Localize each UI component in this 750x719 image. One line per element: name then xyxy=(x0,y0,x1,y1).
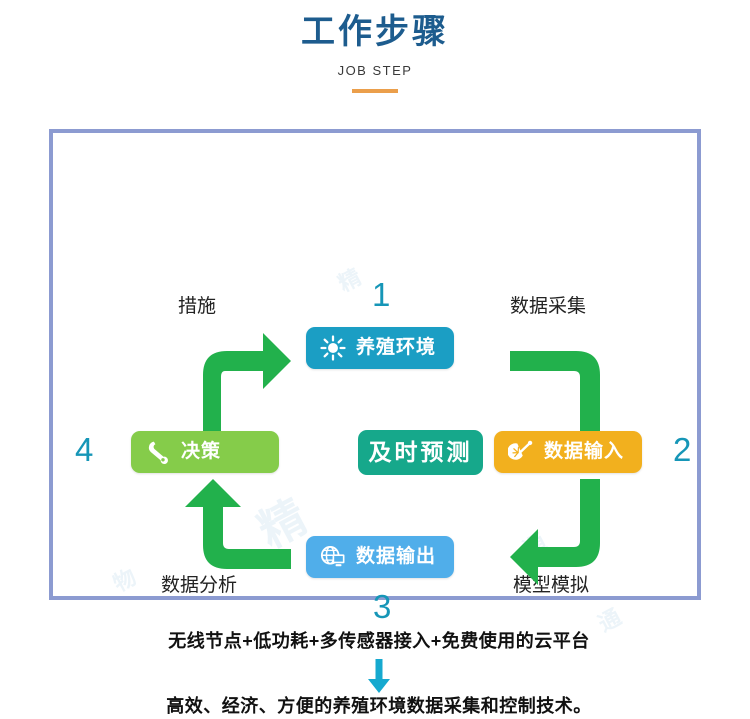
watermark-text: 物 xyxy=(107,560,141,599)
watermark-text: 精 xyxy=(332,260,366,299)
node-label: 养殖环境 xyxy=(356,327,436,369)
arrow-input-to-output xyxy=(510,485,640,595)
node-decision[interactable]: 决策 xyxy=(131,431,279,473)
node-timely-forecast[interactable]: 及时预测 xyxy=(358,430,483,475)
step-number-3: 3 xyxy=(373,588,391,626)
arrow-decision-to-environment xyxy=(163,325,293,435)
summary-benefit-text: 高效、经济、方便的养殖环境数据采集和控制技术。 xyxy=(53,693,705,719)
page-subtitle: JOB STEP xyxy=(0,62,750,80)
page-title: 工作步骤 xyxy=(0,8,750,56)
wrench-icon xyxy=(145,439,171,465)
title-underline-rule xyxy=(352,89,398,93)
workflow-diagram-panel: 精 物 通 精 通 1 2 3 4 措施 数据采集 数据分析 模型模拟 xyxy=(49,129,701,600)
node-data-input[interactable]: 数据输入 xyxy=(494,431,642,473)
step-number-1: 1 xyxy=(372,276,390,314)
caption-data-collection: 数据采集 xyxy=(510,293,586,319)
node-data-output[interactable]: 数据输出 xyxy=(306,536,454,578)
sun-icon xyxy=(320,335,346,361)
globe-monitor-icon xyxy=(320,544,346,570)
step-number-4: 4 xyxy=(75,431,93,469)
node-label: 数据输入 xyxy=(544,431,624,473)
node-label: 数据输出 xyxy=(356,536,436,578)
step-number-2: 2 xyxy=(673,431,691,469)
caption-measure: 措施 xyxy=(178,293,216,319)
page-header: 工作步骤 JOB STEP xyxy=(0,8,750,93)
summary-features-text: 无线节点+低功耗+多传感器接入+免费使用的云平台 xyxy=(53,628,705,654)
satellite-dish-icon xyxy=(508,439,534,465)
summary-down-arrow-icon xyxy=(358,659,400,695)
arrow-output-to-decision xyxy=(163,485,293,595)
node-label: 决策 xyxy=(181,431,221,473)
arrow-environment-to-input xyxy=(510,325,640,435)
node-breeding-environment[interactable]: 养殖环境 xyxy=(306,327,454,369)
